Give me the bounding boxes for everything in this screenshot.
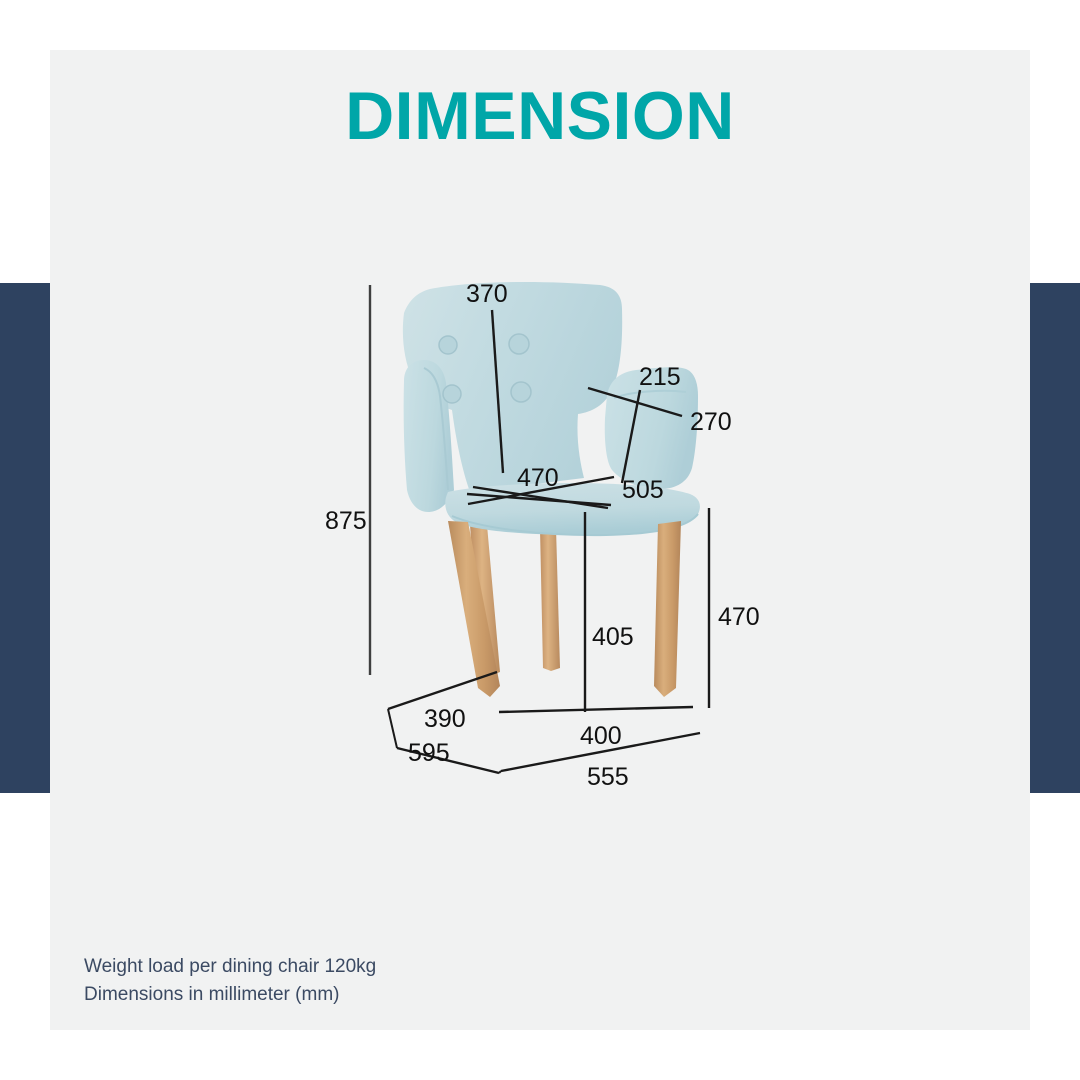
footer-weight-load: Weight load per dining chair 120kg: [84, 953, 376, 981]
page-title: DIMENSION: [0, 82, 1080, 150]
left-accent-bar: [0, 283, 50, 793]
content-panel: [50, 50, 1030, 1030]
dimension-spec-sheet: DIMENSION: [0, 0, 1080, 1080]
right-accent-bar: [1030, 283, 1080, 793]
footer-notes: Weight load per dining chair 120kg Dimen…: [84, 953, 376, 1008]
footer-unit-note: Dimensions in millimeter (mm): [84, 981, 376, 1009]
